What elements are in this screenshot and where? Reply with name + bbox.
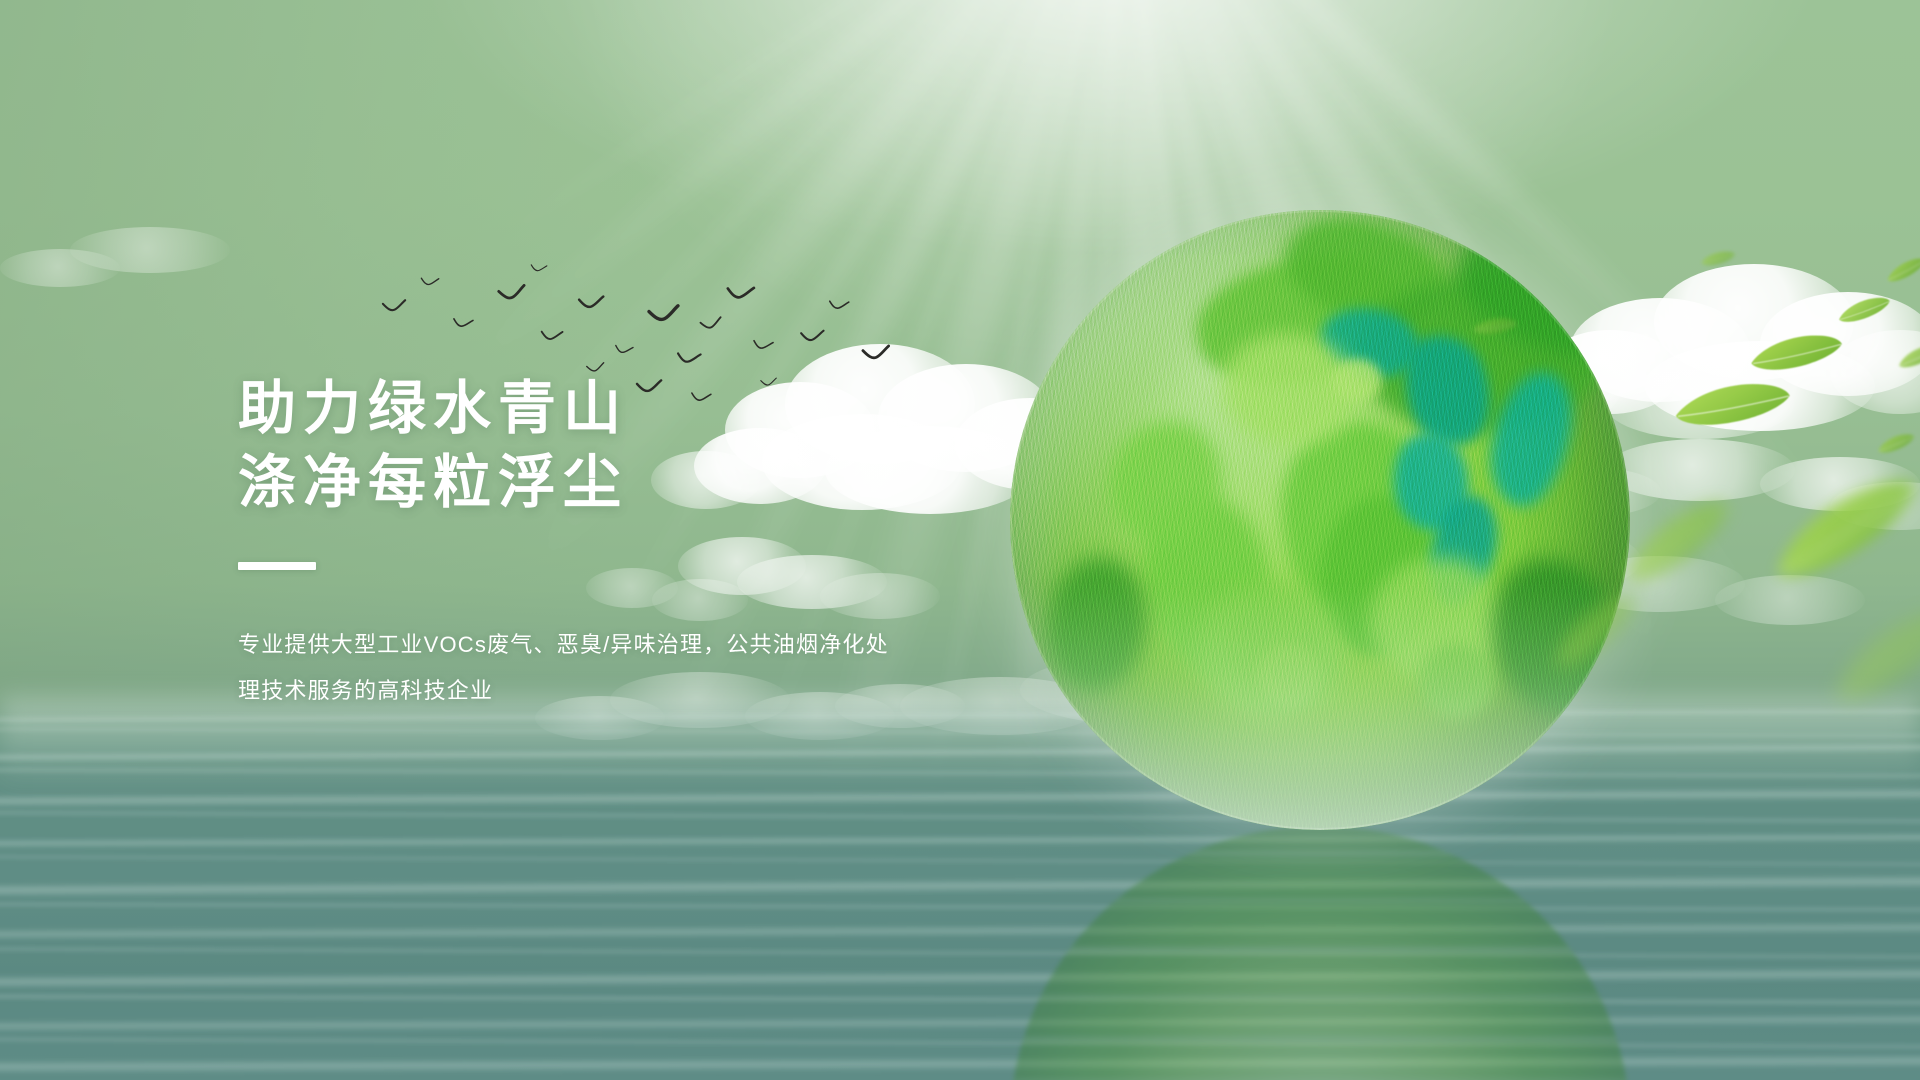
cloud-puff — [1830, 330, 1920, 414]
water-ripple — [0, 833, 1920, 849]
floating-leaf — [1699, 246, 1737, 271]
floating-leaf — [1883, 251, 1920, 289]
cloud-puff — [1605, 369, 1795, 439]
calm-water-surface — [0, 700, 1920, 1080]
water-ripple — [0, 767, 1920, 780]
hero-copy-block: 助力绿水青山 涤净每粒浮尘 专业提供大型工业VOCs废气、恶臭/异味治理，公共油… — [238, 372, 998, 714]
floating-leaf — [1669, 368, 1796, 441]
cloud-puff — [1760, 292, 1920, 396]
cloud-puff — [1715, 575, 1865, 625]
headline-divider — [238, 562, 316, 570]
reflection-ripple — [1010, 898, 1630, 904]
bird-silhouette — [675, 351, 703, 370]
bird-silhouette — [827, 299, 850, 315]
water-ripple — [0, 1014, 1920, 1032]
bird-silhouette — [577, 295, 606, 314]
cloud-puff — [0, 249, 120, 287]
floating-leaf — [1614, 482, 1740, 602]
water-ripple — [0, 967, 1920, 988]
bird-silhouette — [751, 338, 775, 355]
bird-silhouette — [613, 342, 635, 358]
floating-leaf — [1745, 322, 1847, 384]
reflection-ripple — [1010, 946, 1630, 955]
cloud-puff — [1605, 439, 1795, 501]
floating-leaf — [1834, 289, 1893, 332]
cloud-puff — [1830, 482, 1920, 530]
water-ripple — [0, 854, 1920, 867]
water-ripple — [0, 742, 1920, 762]
headline-line-1: 助力绿水青山 — [238, 372, 998, 446]
water-ripple — [0, 726, 1920, 739]
water-ripple — [0, 1036, 1920, 1050]
reflection-ripple — [1010, 850, 1630, 857]
bird-silhouette — [497, 284, 530, 308]
hero-banner: 助力绿水青山 涤净每粒浮尘 专业提供大型工业VOCs废气、恶臭/异味治理，公共油… — [0, 0, 1920, 1080]
water-ripple — [0, 993, 1920, 1007]
bird-silhouette — [726, 285, 757, 305]
floating-leaf — [1760, 454, 1920, 604]
water-ripple — [0, 945, 1920, 960]
cloud-puff — [70, 227, 230, 273]
water-ripple — [0, 901, 1920, 913]
reflection-ripple — [1010, 994, 1630, 1000]
sky-top-light — [0, 0, 1920, 380]
bird-silhouette — [699, 316, 726, 336]
bird-silhouette — [451, 317, 475, 334]
bird-silhouette — [381, 299, 409, 318]
water-ripple — [0, 875, 1920, 897]
cloud-puff — [1760, 457, 1920, 511]
green-grass-earth-globe — [1010, 210, 1630, 830]
bird-silhouette — [540, 329, 565, 346]
headline-line-2: 涤净每粒浮尘 — [238, 446, 998, 520]
bird-silhouette — [419, 275, 440, 289]
bird-silhouette — [529, 261, 548, 274]
floating-leaf — [1875, 427, 1917, 459]
water-ripple — [0, 1055, 1920, 1074]
bird-silhouette — [800, 329, 827, 346]
cloud-puff — [1654, 264, 1854, 380]
water-ripple — [0, 788, 1920, 807]
floating-leaf — [1895, 338, 1920, 376]
cloud-puff — [1645, 341, 1875, 431]
water-ripple — [0, 922, 1920, 940]
reflection-ripple — [1010, 1036, 1630, 1044]
bird-silhouette — [861, 344, 893, 366]
bird-silhouette — [647, 304, 684, 330]
hero-description: 专业提供大型工业VOCs废气、恶臭/异味治理，公共油烟净化处理技术服务的高科技企… — [238, 622, 898, 714]
water-ripple — [0, 809, 1920, 824]
